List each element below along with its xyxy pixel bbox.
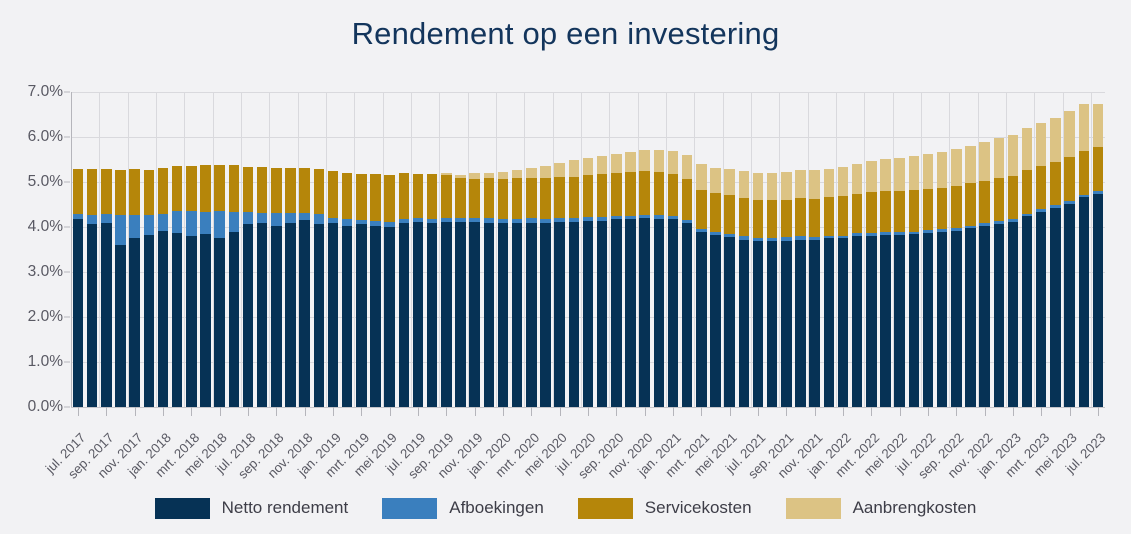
bar-segment: [229, 212, 239, 232]
bar-column[interactable]: [937, 92, 947, 407]
bar-segment: [243, 224, 253, 407]
bar-segment: [413, 218, 423, 222]
bar-segment: [1050, 205, 1060, 208]
bar-column[interactable]: [767, 92, 777, 407]
bar-segment: [781, 241, 791, 408]
bar-column[interactable]: [144, 92, 154, 407]
bar-segment: [314, 224, 324, 407]
bar-segment: [937, 188, 947, 229]
bar-segment: [1064, 111, 1074, 157]
bar-segment: [342, 219, 352, 226]
bar-segment: [158, 214, 168, 231]
x-axis-tick: [1013, 407, 1014, 416]
bar-column[interactable]: [243, 92, 253, 407]
bar-segment: [739, 171, 749, 198]
legend-item[interactable]: Servicekosten: [578, 498, 752, 519]
bar-segment: [1050, 208, 1060, 407]
bar-column[interactable]: [994, 92, 1004, 407]
bar-segment: [724, 169, 734, 195]
bar-column[interactable]: [1036, 92, 1046, 407]
bar-segment: [101, 214, 111, 223]
bar-segment: [965, 146, 975, 184]
bar-segment: [880, 191, 890, 232]
x-axis-tick: [220, 407, 221, 416]
bar-segment: [866, 161, 876, 192]
bar-segment: [370, 221, 380, 226]
bar-column[interactable]: [824, 92, 834, 407]
bar-segment: [682, 179, 692, 220]
bar-segment: [795, 240, 805, 407]
bar-segment: [654, 150, 664, 172]
bar-segment: [1079, 195, 1089, 198]
bar-column[interactable]: [101, 92, 111, 407]
bar-segment: [696, 229, 706, 232]
bar-segment: [441, 218, 451, 222]
bar-segment: [172, 233, 182, 407]
bar-segment: [469, 222, 479, 407]
y-axis-tick: [64, 227, 70, 228]
bar-column[interactable]: [795, 92, 805, 407]
bar-segment: [427, 219, 437, 223]
bar-segment: [894, 232, 904, 235]
x-axis-tick: [475, 407, 476, 416]
legend-item[interactable]: Afboekingen: [382, 498, 544, 519]
bar-column[interactable]: [583, 92, 593, 407]
bar-column[interactable]: [115, 92, 125, 407]
bar-segment: [455, 175, 465, 179]
bar-segment: [639, 218, 649, 407]
bar-segment: [186, 236, 196, 407]
bar-segment: [1093, 147, 1103, 191]
bar-segment: [625, 219, 635, 407]
bar-column[interactable]: [724, 92, 734, 407]
x-axis-tick: [730, 407, 731, 416]
bar-column[interactable]: [314, 92, 324, 407]
bar-column[interactable]: [923, 92, 933, 407]
bar-column[interactable]: [484, 92, 494, 407]
chart-legend: Netto rendementAfboekingenServicekostenA…: [0, 492, 1131, 524]
bar-column[interactable]: [554, 92, 564, 407]
bar-column[interactable]: [469, 92, 479, 407]
bar-segment: [909, 232, 919, 235]
bar-segment: [569, 222, 579, 407]
bar-segment: [441, 222, 451, 407]
bar-segment: [880, 232, 890, 235]
x-axis-tick: [1098, 407, 1099, 416]
bar-column[interactable]: [979, 92, 989, 407]
bar-segment: [852, 194, 862, 234]
bar-column[interactable]: [1022, 92, 1032, 407]
bar-segment: [356, 224, 366, 407]
legend-item[interactable]: Aanbrengkosten: [786, 498, 977, 519]
legend-swatch-icon: [786, 498, 841, 519]
bar-segment: [1036, 166, 1046, 209]
bar-segment: [824, 197, 834, 235]
bar-segment: [399, 219, 409, 223]
bar-column[interactable]: [214, 92, 224, 407]
x-axis-tick: [843, 407, 844, 416]
bar-column[interactable]: [668, 92, 678, 407]
bar-column[interactable]: [1008, 92, 1018, 407]
bar-segment: [73, 219, 83, 407]
bar-segment: [285, 213, 295, 223]
bar-column[interactable]: [866, 92, 876, 407]
y-axis-tick: [64, 137, 70, 138]
bar-segment: [894, 158, 904, 191]
y-axis-tick-label: 0.0%: [0, 398, 63, 416]
bar-column[interactable]: [299, 92, 309, 407]
bar-segment: [87, 224, 97, 407]
legend-label: Afboekingen: [449, 498, 544, 518]
bar-segment: [87, 215, 97, 224]
bar-column[interactable]: [200, 92, 210, 407]
bar-segment: [1022, 128, 1032, 170]
bar-segment: [951, 149, 961, 186]
bar-column[interactable]: [838, 92, 848, 407]
bar-segment: [767, 173, 777, 201]
x-axis-tick: [1041, 407, 1042, 416]
bar-segment: [455, 222, 465, 407]
bar-column[interactable]: [427, 92, 437, 407]
bar-segment: [115, 170, 125, 215]
bar-segment: [979, 223, 989, 226]
bar-segment: [144, 170, 154, 215]
bar-segment: [1022, 216, 1032, 407]
bar-segment: [597, 221, 607, 407]
bar-segment: [427, 223, 437, 407]
bar-column[interactable]: [342, 92, 352, 407]
bar-segment: [1008, 176, 1018, 219]
bar-column[interactable]: [965, 92, 975, 407]
bar-column[interactable]: [158, 92, 168, 407]
bar-segment: [710, 235, 720, 407]
bar-column[interactable]: [654, 92, 664, 407]
x-axis-tick: [106, 407, 107, 416]
bar-segment: [229, 165, 239, 212]
bar-segment: [257, 167, 267, 213]
bar-column[interactable]: [894, 92, 904, 407]
bar-segment: [144, 215, 154, 235]
bar-segment: [1022, 170, 1032, 213]
y-axis-tick-label: 7.0%: [0, 83, 63, 101]
bar-segment: [271, 213, 281, 226]
bar-column[interactable]: [186, 92, 196, 407]
bar-segment: [696, 190, 706, 230]
bar-segment: [753, 173, 763, 200]
bar-segment: [1036, 209, 1046, 212]
bar-segment: [809, 240, 819, 407]
bar-segment: [554, 218, 564, 222]
bar-segment: [809, 170, 819, 198]
bar-segment: [540, 178, 550, 219]
bar-segment: [937, 229, 947, 232]
bar-segment: [880, 235, 890, 407]
bar-segment: [314, 169, 324, 215]
bar-segment: [243, 212, 253, 225]
bar-segment: [824, 169, 834, 198]
bar-segment: [356, 174, 366, 220]
bar-segment: [1008, 219, 1018, 222]
bar-segment: [866, 233, 876, 236]
bar-segment: [639, 171, 649, 216]
bar-segment: [214, 165, 224, 210]
bar-segment: [1079, 197, 1089, 407]
bar-column[interactable]: [87, 92, 97, 407]
bar-segment: [526, 178, 536, 219]
bar-segment: [1064, 157, 1074, 201]
bar-segment: [214, 238, 224, 407]
bar-column[interactable]: [285, 92, 295, 407]
bar-segment: [923, 230, 933, 233]
bar-segment: [668, 219, 678, 407]
bar-segment: [583, 158, 593, 175]
bar-column[interactable]: [441, 92, 451, 407]
bar-segment: [795, 236, 805, 239]
bar-segment: [498, 219, 508, 223]
bar-segment: [1093, 104, 1103, 148]
bar-column[interactable]: [1079, 92, 1089, 407]
bar-segment: [1064, 204, 1074, 407]
bar-column[interactable]: [852, 92, 862, 407]
x-axis-tick: [390, 407, 391, 416]
bar-segment: [852, 164, 862, 194]
bar-column[interactable]: [526, 92, 536, 407]
bar-segment: [1050, 162, 1060, 205]
bar-column[interactable]: [328, 92, 338, 407]
bar-column[interactable]: [909, 92, 919, 407]
bar-segment: [1036, 212, 1046, 407]
x-axis-tick: [560, 407, 561, 416]
legend-label: Servicekosten: [645, 498, 752, 518]
bar-column[interactable]: [753, 92, 763, 407]
bar-segment: [994, 178, 1004, 221]
bar-segment: [441, 175, 451, 218]
y-axis-tick-label: 3.0%: [0, 263, 63, 281]
bar-segment: [838, 196, 848, 235]
bar-column[interactable]: [809, 92, 819, 407]
bar-column[interactable]: [257, 92, 267, 407]
bar-segment: [569, 218, 579, 222]
bar-segment: [682, 223, 692, 407]
bar-segment: [625, 152, 635, 172]
bar-column[interactable]: [413, 92, 423, 407]
bar-column[interactable]: [540, 92, 550, 407]
legend-item[interactable]: Netto rendement: [155, 498, 349, 519]
bar-segment: [852, 236, 862, 407]
bar-segment: [186, 166, 196, 211]
bar-segment: [710, 232, 720, 235]
bar-segment: [243, 167, 253, 212]
x-axis-tick: [78, 407, 79, 416]
bar-segment: [979, 226, 989, 407]
legend-swatch-icon: [155, 498, 210, 519]
bar-segment: [909, 190, 919, 231]
y-axis-tick-label: 5.0%: [0, 173, 63, 191]
bar-segment: [554, 222, 564, 407]
bar-segment: [314, 214, 324, 224]
bar-segment: [413, 174, 423, 218]
bar-segment: [455, 178, 465, 218]
bar-column[interactable]: [682, 92, 692, 407]
bar-segment: [399, 223, 409, 407]
bar-column[interactable]: [512, 92, 522, 407]
bar-segment: [299, 168, 309, 213]
bar-column[interactable]: [1093, 92, 1103, 407]
bar-column[interactable]: [625, 92, 635, 407]
bar-column[interactable]: [781, 92, 791, 407]
bar-segment: [214, 211, 224, 238]
bar-segment: [753, 200, 763, 238]
bar-segment: [866, 192, 876, 233]
bar-column[interactable]: [384, 92, 394, 407]
bar-column[interactable]: [739, 92, 749, 407]
x-axis-tick: [645, 407, 646, 416]
bar-segment: [413, 222, 423, 407]
bar-segment: [824, 238, 834, 407]
bar-segment: [370, 226, 380, 407]
bar-column[interactable]: [710, 92, 720, 407]
bar-segment: [87, 169, 97, 215]
bar-segment: [73, 214, 83, 219]
bar-segment: [909, 234, 919, 407]
x-axis-tick: [673, 407, 674, 416]
bar-column[interactable]: [271, 92, 281, 407]
y-axis-tick-label: 6.0%: [0, 128, 63, 146]
x-axis: jul. 2017sep. 2017nov. 2017jan. 2018mrt.…: [71, 407, 1105, 497]
bar-segment: [484, 218, 494, 222]
bar-column[interactable]: [73, 92, 83, 407]
bar-segment: [724, 237, 734, 407]
bar-segment: [668, 216, 678, 219]
bar-segment: [554, 177, 564, 218]
bar-segment: [200, 165, 210, 212]
bar-segment: [328, 171, 338, 218]
bar-segment: [384, 175, 394, 221]
bar-segment: [129, 215, 139, 238]
bar-column[interactable]: [129, 92, 139, 407]
bar-segment: [951, 186, 961, 228]
bar-segment: [1079, 104, 1089, 151]
bar-segment: [1008, 222, 1018, 407]
bar-segment: [838, 167, 848, 196]
y-axis-tick: [64, 92, 70, 93]
bar-segment: [384, 222, 394, 227]
bar-segment: [299, 220, 309, 407]
bar-segment: [965, 226, 975, 229]
bar-column[interactable]: [611, 92, 621, 407]
bar-segment: [937, 232, 947, 407]
bar-segment: [484, 173, 494, 179]
bar-segment: [356, 220, 366, 225]
bar-segment: [682, 220, 692, 224]
bar-segment: [781, 237, 791, 240]
bar-segment: [979, 181, 989, 224]
bar-column[interactable]: [1050, 92, 1060, 407]
x-axis-tick: [333, 407, 334, 416]
chart-container: Rendement op een investering 0.0%1.0%2.0…: [0, 0, 1131, 534]
x-axis-tick: [900, 407, 901, 416]
chart-title: Rendement op een investering: [0, 14, 1131, 54]
bar-column[interactable]: [1064, 92, 1074, 407]
bar-segment: [158, 231, 168, 407]
bar-segment: [611, 216, 621, 219]
bar-column[interactable]: [569, 92, 579, 407]
bar-column[interactable]: [498, 92, 508, 407]
bar-column[interactable]: [172, 92, 182, 407]
bar-column[interactable]: [880, 92, 890, 407]
bar-segment: [186, 211, 196, 236]
bar-segment: [172, 166, 182, 211]
bar-segment: [739, 236, 749, 239]
y-axis-tick: [64, 182, 70, 183]
bar-segment: [512, 223, 522, 408]
bar-column[interactable]: [639, 92, 649, 407]
bar-segment: [399, 173, 409, 218]
bar-segment: [257, 223, 267, 407]
bar-segment: [285, 223, 295, 407]
bar-segment: [767, 200, 777, 238]
bar-segment: [894, 191, 904, 232]
bar-segment: [583, 221, 593, 407]
bar-segment: [668, 174, 678, 216]
bar-segment: [158, 168, 168, 214]
bar-segment: [767, 241, 777, 407]
y-axis: 0.0%1.0%2.0%3.0%4.0%5.0%6.0%7.0%: [0, 92, 63, 407]
bar-segment: [129, 169, 139, 215]
bar-column[interactable]: [229, 92, 239, 407]
legend-label: Aanbrengkosten: [853, 498, 977, 518]
bar-segment: [115, 215, 125, 245]
x-axis-tick: [135, 407, 136, 416]
bar-segment: [654, 215, 664, 219]
y-axis-tick-label: 4.0%: [0, 218, 63, 236]
bar-segment: [611, 154, 621, 173]
bar-segment: [696, 164, 706, 189]
bar-column[interactable]: [356, 92, 366, 407]
bar-segment: [639, 215, 649, 218]
plot-area: [71, 92, 1105, 407]
bar-column[interactable]: [455, 92, 465, 407]
bar-column[interactable]: [696, 92, 706, 407]
bar-segment: [271, 168, 281, 213]
bar-segment: [342, 173, 352, 219]
bar-segment: [342, 226, 352, 407]
bar-segment: [441, 173, 451, 175]
bar-segment: [299, 213, 309, 220]
bar-segment: [951, 231, 961, 407]
bar-segment: [838, 238, 848, 407]
bar-segment: [611, 219, 621, 407]
bar-segment: [866, 236, 876, 407]
bar-segment: [639, 150, 649, 171]
bar-segment: [455, 218, 465, 221]
x-axis-tick: [701, 407, 702, 416]
y-axis-tick: [64, 317, 70, 318]
bar-segment: [229, 232, 239, 408]
bar-column[interactable]: [597, 92, 607, 407]
x-axis-tick: [503, 407, 504, 416]
bar-column[interactable]: [370, 92, 380, 407]
bar-segment: [370, 174, 380, 220]
bar-segment: [654, 219, 664, 407]
bar-segment: [1022, 214, 1032, 217]
bar-column[interactable]: [951, 92, 961, 407]
bar-column[interactable]: [399, 92, 409, 407]
x-axis-tick: [956, 407, 957, 416]
y-axis-tick: [64, 272, 70, 273]
bar-segment: [469, 179, 479, 219]
bar-segment: [257, 213, 267, 223]
